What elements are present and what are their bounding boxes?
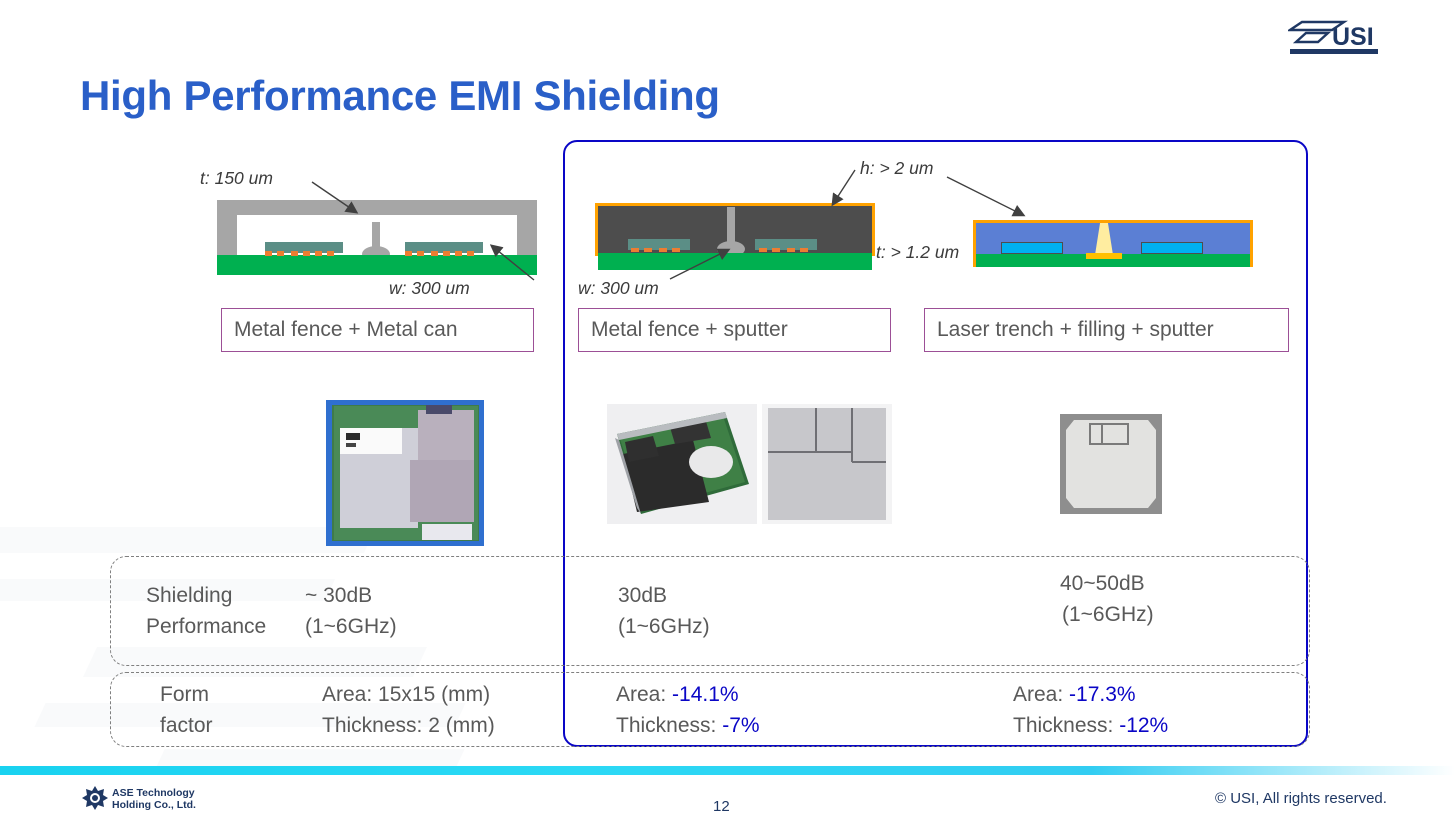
area-line: Area: -14.1% — [616, 679, 760, 710]
photo-module-sputter-top — [762, 404, 892, 524]
usi-logo: USI — [1288, 20, 1380, 58]
callout-thickness-150um: t: 150 um — [200, 168, 273, 189]
callout-width-300um-fence: w: 300 um — [578, 278, 659, 299]
method-label-text: Metal fence + Metal can — [234, 318, 458, 342]
thickness-line: Thickness: -12% — [1013, 710, 1168, 741]
diagram-laser-trench — [973, 220, 1253, 270]
callout-arrow-1 — [310, 180, 430, 230]
callout-thickness-1p2um: t: > 1.2 um — [876, 242, 959, 263]
row-label-shielding: Shielding Performance — [146, 580, 266, 642]
solder-bumps-right-icon — [389, 240, 469, 254]
copyright-notice: © USI, All rights reserved. — [1215, 790, 1387, 807]
callout-arrow-2 — [478, 238, 558, 288]
method-label-metal-fence-sputter[interactable]: Metal fence + sputter — [578, 308, 891, 352]
cell-form-metal-can: Area: 15x15 (mm) Thickness: 2 (mm) — [322, 679, 495, 741]
method-label-text: Laser trench + filling + sputter — [937, 318, 1214, 342]
die-component — [1141, 242, 1203, 254]
svg-text:USI: USI — [1332, 23, 1374, 51]
solder-bumps-right-icon — [747, 237, 817, 253]
method-label-laser-trench[interactable]: Laser trench + filling + sputter — [924, 308, 1289, 352]
thickness-line: Thickness: 2 (mm) — [322, 710, 495, 741]
row-label-form-factor: Form factor — [160, 679, 213, 741]
ase-technology-logo-text: ASE Technology Holding Co., Ltd. — [112, 787, 196, 811]
cell-shielding-laser-trench: 40~50dB (1~6GHz) — [1060, 568, 1154, 630]
area-line: Area: -17.3% — [1013, 679, 1168, 710]
cell-shielding-fence-sputter: 30dB (1~6GHz) — [618, 580, 710, 642]
page-title: High Performance EMI Shielding — [80, 72, 720, 120]
photo-module-sputter-angled — [607, 404, 757, 524]
photo-laser-trench-module — [1060, 414, 1162, 514]
thickness-line: Thickness: -7% — [616, 710, 760, 741]
callout-arrow-3 — [827, 168, 877, 216]
callout-width-300um-can: w: 300 um — [389, 278, 470, 299]
page-number: 12 — [713, 798, 730, 815]
slide-canvas: USI High Performance EMI Shielding — [0, 0, 1455, 817]
cell-form-fence-sputter: Area: -14.1% Thickness: -7% — [616, 679, 760, 741]
die-component — [1001, 242, 1063, 254]
callout-arrow-4 — [668, 243, 748, 288]
cell-form-laser-trench: Area: -17.3% Thickness: -12% — [1013, 679, 1168, 741]
method-label-metal-can[interactable]: Metal fence + Metal can — [221, 308, 534, 352]
method-label-text: Metal fence + sputter — [591, 318, 788, 342]
cell-shielding-metal-can: ~ 30dB (1~6GHz) — [305, 580, 397, 642]
footer-accent-bar — [0, 766, 1455, 775]
callout-arrow-5 — [945, 175, 1055, 225]
ground-pad — [1086, 253, 1122, 259]
area-line: Area: 15x15 (mm) — [322, 679, 495, 710]
ase-technology-logo-icon — [82, 786, 108, 810]
photo-pcb-metal-cans — [326, 400, 484, 546]
solder-bumps-left-icon — [249, 240, 329, 254]
